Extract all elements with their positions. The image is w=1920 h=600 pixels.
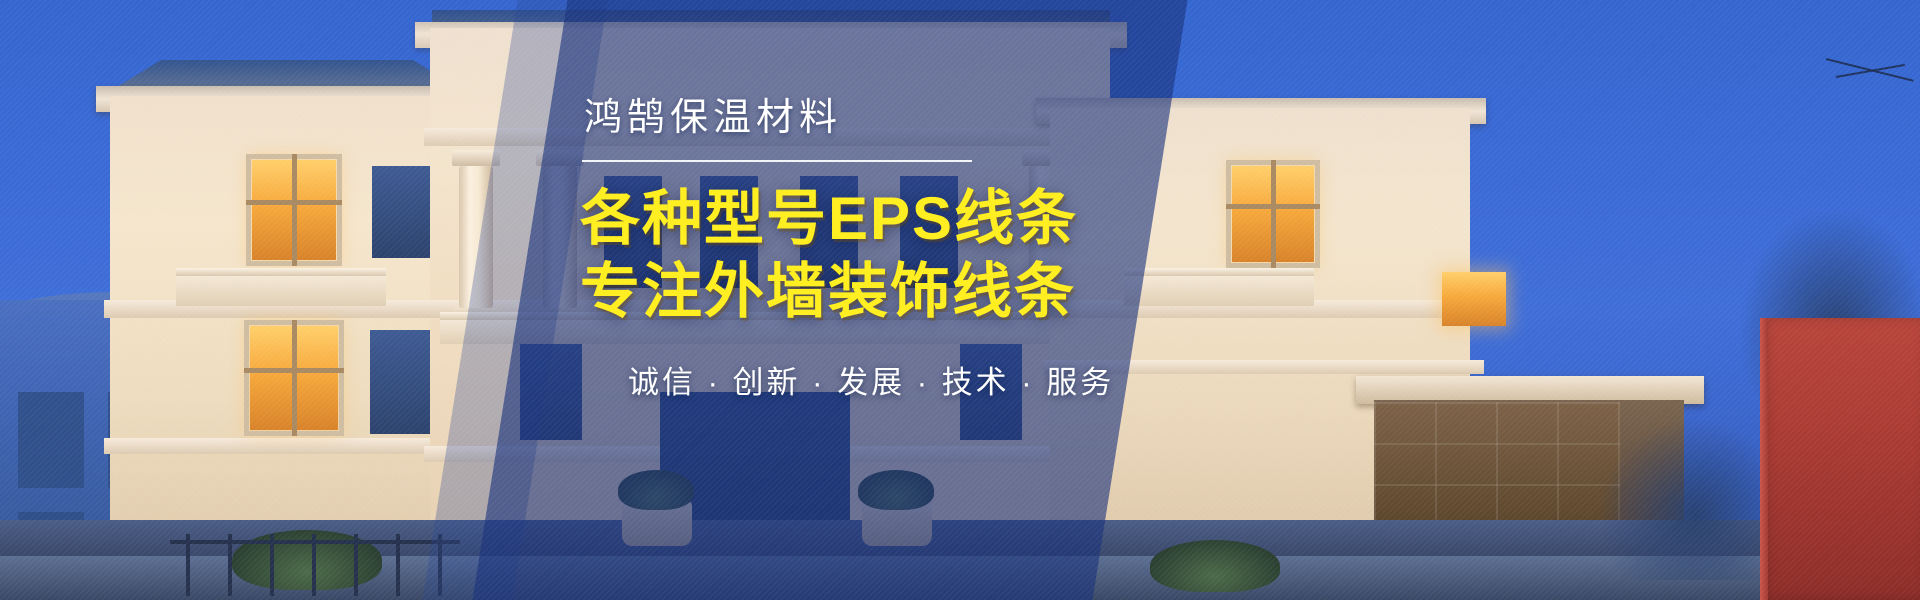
hero-banner: 鸿鹄保温材料 各种型号EPS线条 专注外墙装饰线条 诚信 · 创新 · 发展 ·… (0, 0, 1920, 600)
red-building-edge (1760, 318, 1768, 600)
tagline: 诚信 · 创新 · 发展 · 技术 · 服务 (628, 357, 1220, 402)
fence-post (270, 534, 274, 596)
shrub (232, 530, 382, 590)
window-mullion (246, 200, 342, 205)
balustrade (176, 276, 386, 306)
balustrade-rail (176, 268, 386, 276)
banner-copy: 鸿鹄保温材料 各种型号EPS线条 专注外墙装饰线条 诚信 · 创新 · 发展 ·… (580, 96, 1220, 402)
shrub (1150, 540, 1280, 592)
window-mullion (1271, 160, 1276, 268)
divider-rule (582, 160, 972, 162)
headline-line-2: 专注外墙装饰线条 (580, 257, 1220, 327)
fence-post (354, 534, 358, 596)
fence-post (396, 534, 400, 596)
window-mullion (292, 154, 297, 266)
fence-post (186, 534, 190, 596)
window-mullion (244, 368, 344, 373)
window-dark (370, 330, 436, 434)
window-mullion (1226, 204, 1320, 209)
red-building (1760, 318, 1920, 600)
brand-name: 鸿鹄保温材料 (584, 96, 1220, 142)
headline-line-1: 各种型号EPS线条 (580, 184, 1220, 254)
fence-post (312, 534, 316, 596)
window-glow (1442, 272, 1506, 326)
fence-post (228, 534, 232, 596)
window-mullion (292, 320, 297, 436)
left-wing-band (104, 438, 468, 454)
window-dark (372, 166, 430, 258)
